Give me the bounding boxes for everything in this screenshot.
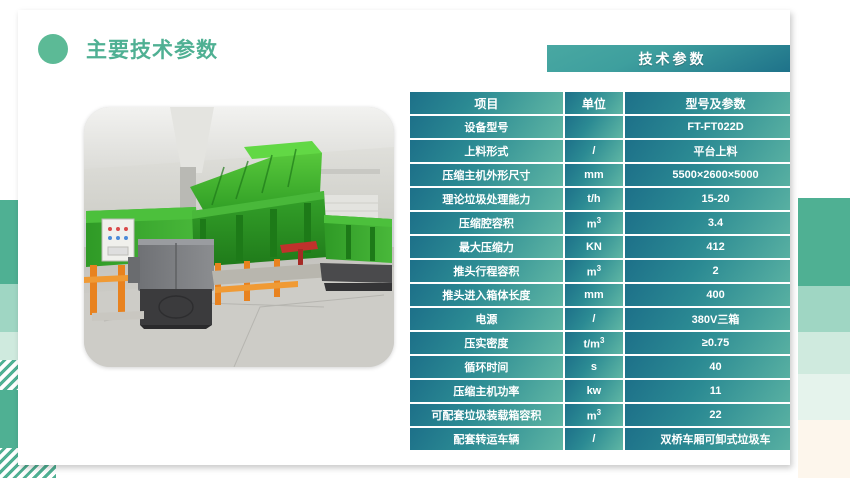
table-row: 上料形式/平台上料 xyxy=(410,140,790,162)
table-row: 压实密度t/m3≥0.75 xyxy=(410,332,790,354)
table-row: 推头行程容积m32 xyxy=(410,260,790,282)
cell-unit-12: m3 xyxy=(565,404,623,426)
cell-value-13: 双桥车厢可卸式垃圾车 xyxy=(625,428,790,450)
cell-item-5: 最大压缩力 xyxy=(410,236,563,258)
table-row: 电源/380V三箱 xyxy=(410,308,790,330)
cell-item-3: 理论垃圾处理能力 xyxy=(410,188,563,210)
product-photo xyxy=(84,107,394,367)
cell-item-13: 配套转运车辆 xyxy=(410,428,563,450)
column-header-unit: 单位 xyxy=(565,92,623,114)
cell-unit-13: / xyxy=(565,428,623,450)
cell-unit-7: mm xyxy=(565,284,623,306)
cell-item-12: 可配套垃圾装载箱容积 xyxy=(410,404,563,426)
table-row: 设备型号FT-FT022D xyxy=(410,116,790,138)
cell-unit-1: / xyxy=(565,140,623,162)
cell-value-5: 412 xyxy=(625,236,790,258)
cell-unit-11: kw xyxy=(565,380,623,402)
table-row: 压缩主机外形尺寸mm5500×2600×5000 xyxy=(410,164,790,186)
cell-unit-3: t/h xyxy=(565,188,623,210)
cell-item-7: 推头进入箱体长度 xyxy=(410,284,563,306)
cell-item-6: 推头行程容积 xyxy=(410,260,563,282)
cell-unit-0 xyxy=(565,116,623,138)
table-row: 可配套垃圾装载箱容积m322 xyxy=(410,404,790,426)
cell-value-12: 22 xyxy=(625,404,790,426)
cell-item-10: 循环时间 xyxy=(410,356,563,378)
cell-item-2: 压缩主机外形尺寸 xyxy=(410,164,563,186)
table-header-row: 项目 单位 型号及参数 xyxy=(410,92,790,114)
cell-value-2: 5500×2600×5000 xyxy=(625,164,790,186)
decoration-right-band-1 xyxy=(798,198,850,286)
spec-table: 项目 单位 型号及参数 设备型号FT-FT022D上料形式/平台上料压缩主机外形… xyxy=(408,90,790,452)
table-row: 理论垃圾处理能力t/h15-20 xyxy=(410,188,790,210)
table-row: 循环时间s40 xyxy=(410,356,790,378)
section-banner: 技术参数 xyxy=(547,45,790,72)
product-photo-image xyxy=(84,107,394,367)
cell-unit-4: m3 xyxy=(565,212,623,234)
table-row: 压缩主机功率kw11 xyxy=(410,380,790,402)
page-title: 主要技术参数 xyxy=(38,34,218,64)
cell-item-1: 上料形式 xyxy=(410,140,563,162)
cell-item-9: 压实密度 xyxy=(410,332,563,354)
cell-unit-9: t/m3 xyxy=(565,332,623,354)
column-header-item: 项目 xyxy=(410,92,563,114)
cell-item-4: 压缩腔容积 xyxy=(410,212,563,234)
cell-unit-8: / xyxy=(565,308,623,330)
table-row: 最大压缩力KN412 xyxy=(410,236,790,258)
cell-value-6: 2 xyxy=(625,260,790,282)
decoration-right-band-2 xyxy=(798,286,850,332)
cell-unit-2: mm xyxy=(565,164,623,186)
table-row: 压缩腔容积m33.4 xyxy=(410,212,790,234)
cell-value-0: FT-FT022D xyxy=(625,116,790,138)
decoration-right-band-5 xyxy=(798,420,850,478)
cell-value-3: 15-20 xyxy=(625,188,790,210)
cell-unit-5: KN xyxy=(565,236,623,258)
cell-value-4: 3.4 xyxy=(625,212,790,234)
cell-unit-6: m3 xyxy=(565,260,623,282)
cell-unit-10: s xyxy=(565,356,623,378)
cell-value-11: 11 xyxy=(625,380,790,402)
table-row: 配套转运车辆/双桥车厢可卸式垃圾车 xyxy=(410,428,790,450)
cell-item-11: 压缩主机功率 xyxy=(410,380,563,402)
cell-value-7: 400 xyxy=(625,284,790,306)
column-header-value: 型号及参数 xyxy=(625,92,790,114)
page-title-text: 主要技术参数 xyxy=(86,34,218,64)
cell-value-8: 380V三箱 xyxy=(625,308,790,330)
slide-canvas: 主要技术参数 xyxy=(0,0,850,478)
cell-item-8: 电源 xyxy=(410,308,563,330)
cell-value-1: 平台上料 xyxy=(625,140,790,162)
decoration-right-band-3 xyxy=(798,332,850,374)
table-row: 推头进入箱体长度mm400 xyxy=(410,284,790,306)
cell-value-10: 40 xyxy=(625,356,790,378)
decoration-right-band-4 xyxy=(798,374,850,420)
slide-card: 主要技术参数 xyxy=(18,10,790,465)
cell-item-0: 设备型号 xyxy=(410,116,563,138)
cell-value-9: ≥0.75 xyxy=(625,332,790,354)
circle-bullet-icon xyxy=(38,34,68,64)
section-banner-title: 技术参数 xyxy=(639,49,707,69)
